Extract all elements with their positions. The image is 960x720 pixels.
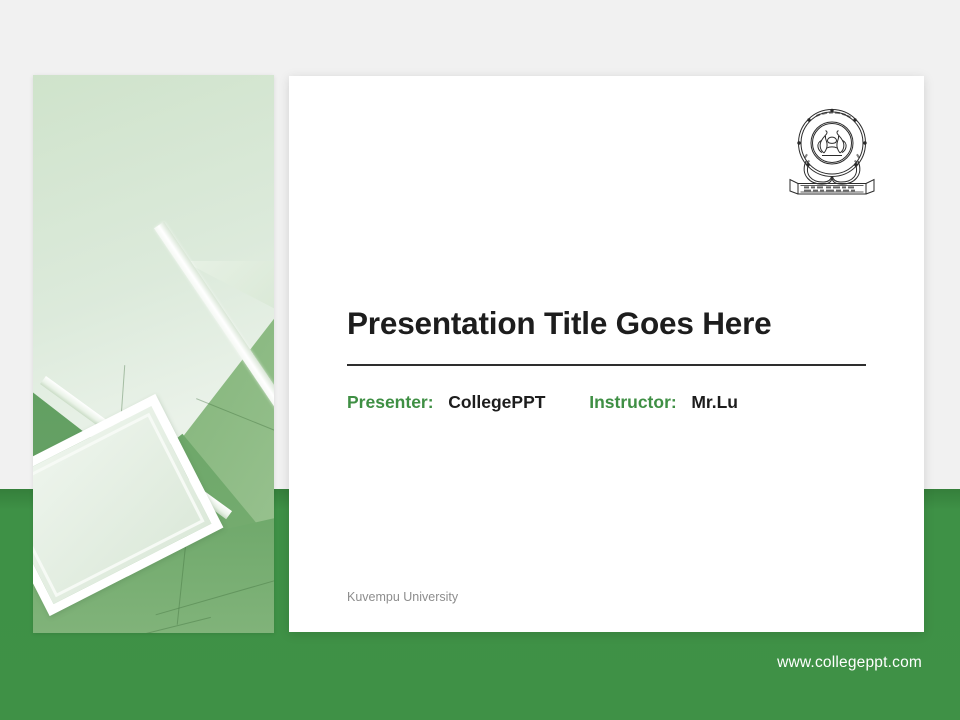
presenter-label: Presenter: <box>347 392 434 412</box>
organization-name: Kuvempu University <box>347 590 458 604</box>
website-url: www.collegeppt.com <box>777 654 922 672</box>
decorative-photo-panel <box>33 75 274 633</box>
byline: Presenter: CollegePPT Instructor: Mr.Lu <box>347 392 738 413</box>
instructor-name: Mr.Lu <box>691 392 738 412</box>
presenter-name: CollegePPT <box>448 392 545 412</box>
photo-image <box>33 75 274 633</box>
instructor-label: Instructor: <box>589 392 677 412</box>
presentation-slide: www.collegeppt.com <box>0 0 960 720</box>
slide-content-card: Presentation Title Goes Here Presenter: … <box>289 76 924 632</box>
title-divider <box>347 364 866 366</box>
page-title: Presentation Title Goes Here <box>347 305 771 342</box>
university-emblem-icon <box>780 105 884 203</box>
